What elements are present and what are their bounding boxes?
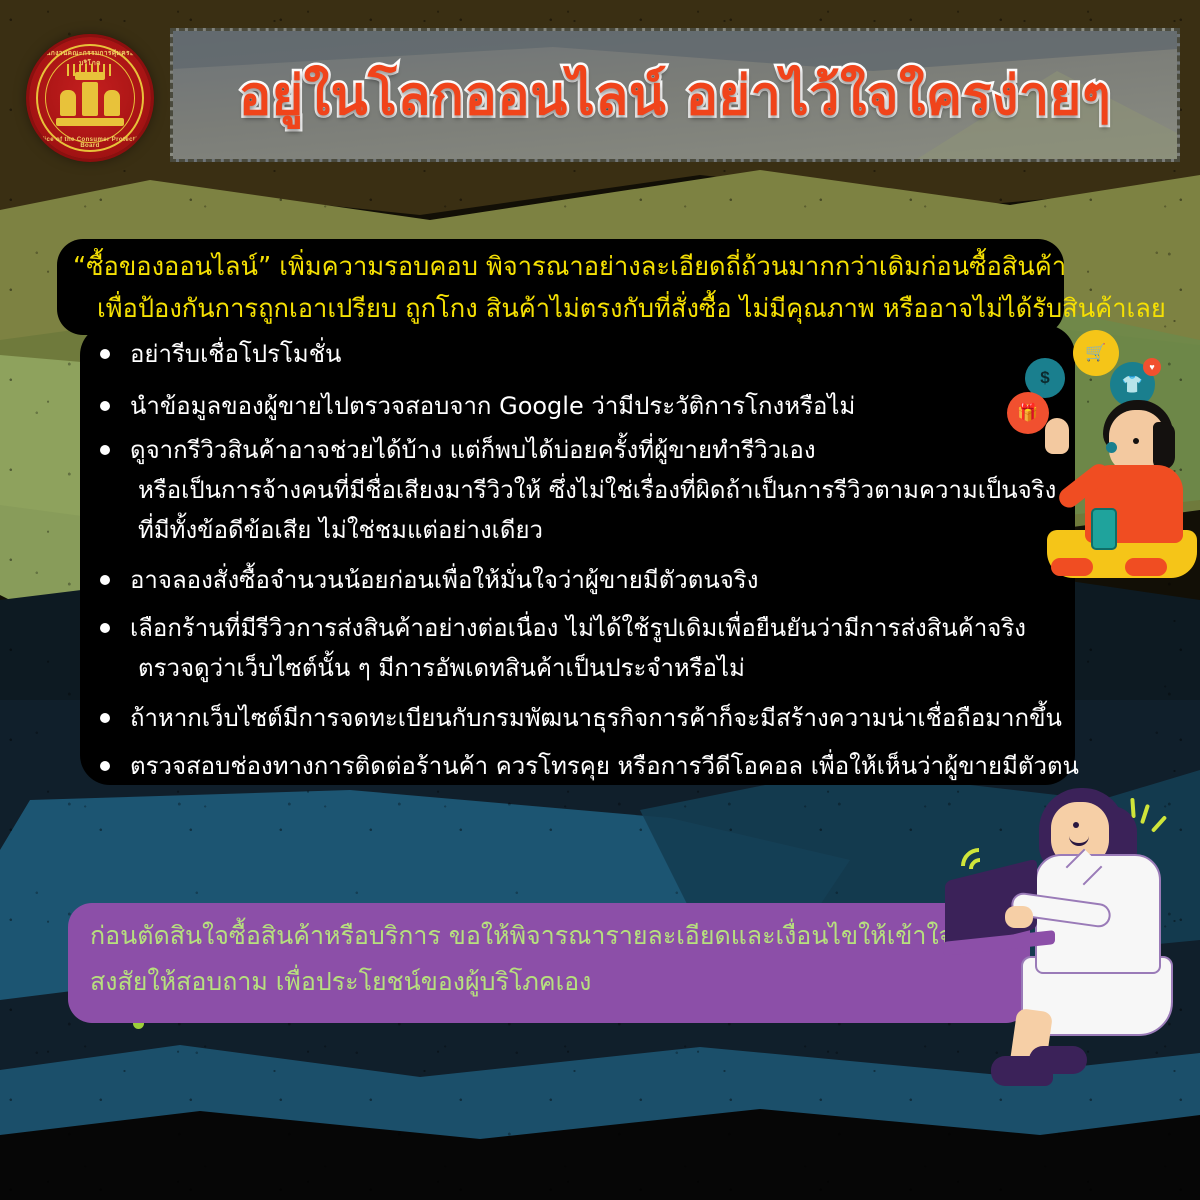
list-item: อย่ารีบเชื่อโปรโมชั่น <box>130 334 341 374</box>
seal-emblem <box>59 68 121 128</box>
shopping-cart-icon: 🛒 <box>1073 330 1119 376</box>
bullet-dot-icon <box>100 445 110 455</box>
seal-lion-left <box>60 90 76 116</box>
laptop-user-eye <box>1073 822 1079 828</box>
shopper-earring <box>1106 442 1117 453</box>
shopper-hand <box>1045 418 1069 454</box>
bullet-text: นำข้อมูลของผู้ขายไปตรวจสอบจาก Google ว่า… <box>130 392 855 420</box>
bullet-text-cont: หรือเป็นการจ้างคนที่มีชื่อเสียงมารีวิวให… <box>130 470 1056 510</box>
bullet-text: อาจลองสั่งซื้อจำนวนน้อยก่อนเพื่อให้มั่นใ… <box>130 566 758 594</box>
laptop-user-hand <box>1005 906 1033 928</box>
callout-box: ก่อนตัดสินใจซื้อสินค้าหรือบริการ ขอให้พิ… <box>68 903 1030 1023</box>
list-item: นำข้อมูลของผู้ขายไปตรวจสอบจาก Google ว่า… <box>130 386 855 426</box>
spark-line-icon <box>1140 804 1150 824</box>
shopper-eye <box>1133 438 1139 444</box>
list-item: ตรวจสอบช่องทางการติดต่อร้านค้า ควรโทรคุย… <box>130 746 1079 786</box>
illustration-laptop-user <box>955 788 1200 1100</box>
footer-bar: ☎ 1 1 6 6 ◎ f Pantip Learn, Share & Fu <box>0 1090 1200 1200</box>
bullet-text: เลือกร้านที่มีรีวิวการส่งสินค้าอย่างต่อเ… <box>130 614 1026 642</box>
bullet-text-cont: ตรวจดูว่าเว็บไซต์นั้น ๆ มีการอัพเดทสินค้… <box>130 648 1026 688</box>
bullet-text: ตรวจสอบช่องทางการติดต่อร้านค้า ควรโทรคุย… <box>130 752 1079 780</box>
laptop-user-shoe-back <box>1029 1046 1087 1074</box>
spark-line-icon <box>1151 815 1167 833</box>
bullet-text: ดูจากรีวิวสินค้าอาจช่วยได้บ้าง แต่ก็พบได… <box>130 436 816 464</box>
bullet-dot-icon <box>100 713 110 723</box>
gift-icon: 🎁 <box>1007 392 1049 434</box>
illustration-online-shopper: 🛒 $ 👕 🎁 ♥ <box>985 330 1200 580</box>
ocpb-seal-logo: สำนักงานคณะกรรมการคุ้มครองผู้บริโภค Offi… <box>29 37 151 159</box>
infographic-poster: อยู่ในโลกออนไลน์ อย่าไว้ใจใครง่ายๆ สำนัก… <box>0 0 1200 1200</box>
shopper-smartphone <box>1091 508 1117 550</box>
list-item: อาจลองสั่งซื้อจำนวนน้อยก่อนเพื่อให้มั่นใ… <box>130 560 758 600</box>
shopper-foot-left <box>1051 558 1093 576</box>
lead-paragraph-card: “ซื้อของออนไลน์” เพิ่มความรอบคอบ พิจารณา… <box>57 239 1064 335</box>
seal-pillar-cap <box>75 72 105 80</box>
title-banner: อยู่ในโลกออนไลน์ อย่าไว้ใจใครง่ายๆ <box>170 28 1180 162</box>
seal-base <box>56 118 124 126</box>
bullet-text: ถ้าหากเว็บไซต์มีการจดทะเบียนกับกรมพัฒนาธ… <box>130 704 1062 732</box>
bullet-dot-icon <box>100 401 110 411</box>
bullet-dot-icon <box>100 349 110 359</box>
bullet-text: อย่ารีบเชื่อโปรโมชั่น <box>130 340 341 368</box>
bullet-dot-icon <box>100 575 110 585</box>
shopper-hair-side <box>1153 422 1175 470</box>
seal-lion-right <box>104 90 120 116</box>
page-title: อยู่ในโลกออนไลน์ อย่าไว้ใจใครง่ายๆ <box>173 52 1177 138</box>
list-item: เลือกร้านที่มีรีวิวการส่งสินค้าอย่างต่อเ… <box>130 608 1026 688</box>
list-item: ดูจากรีวิวสินค้าอาจช่วยได้บ้าง แต่ก็พบได… <box>130 430 1056 550</box>
heart-badge-icon: ♥ <box>1143 358 1161 376</box>
seal-pillar <box>82 82 98 116</box>
bullet-dot-icon <box>100 761 110 771</box>
list-item: ถ้าหากเว็บไซต์มีการจดทะเบียนกับกรมพัฒนาธ… <box>130 698 1062 738</box>
shopper-foot-right <box>1125 558 1167 576</box>
bullet-text-cont: ที่มีทั้งข้อดีข้อเสีย ไม่ใช่ชมแต่อย่างเด… <box>130 510 1056 550</box>
seal-english-text: Office of the Consumer Protection Board <box>29 137 151 149</box>
lead-line-1: “ซื้อของออนไลน์” เพิ่มความรอบคอบ พิจารณา… <box>73 244 1066 290</box>
bullet-dot-icon <box>100 623 110 633</box>
callout-line-1: ก่อนตัดสินใจซื้อสินค้าหรือบริการ ขอให้พิ… <box>90 919 953 953</box>
callout-line-2: สงสัยให้สอบถาม เพื่อประโยชน์ของผู้บริโภค… <box>90 965 591 999</box>
